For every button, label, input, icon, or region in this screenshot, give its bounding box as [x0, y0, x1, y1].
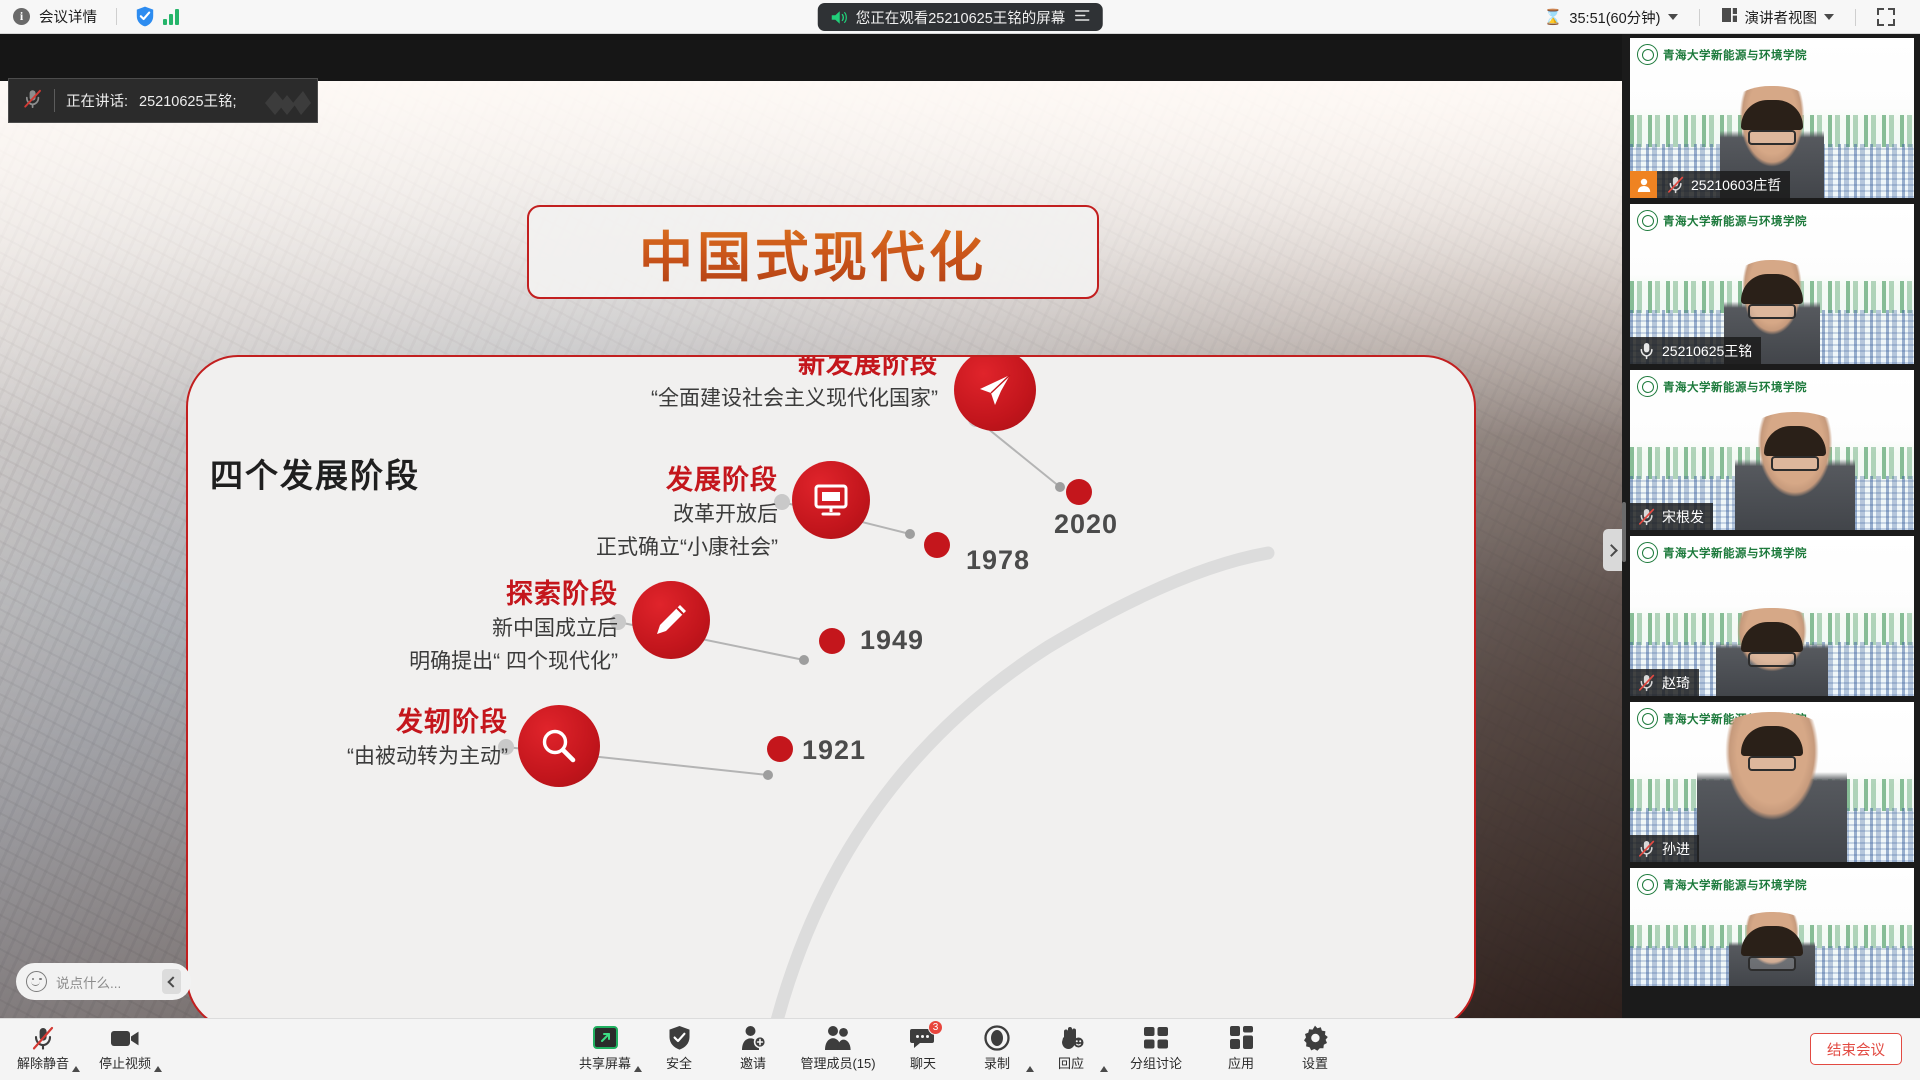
virtual-background-text: 青海大学新能源与环境学院	[1663, 545, 1807, 561]
people-icon	[824, 1024, 852, 1051]
stage-block-1: 发展阶段 改革开放后 正式确立“小康社会”	[448, 465, 778, 561]
host-badge-icon	[1630, 171, 1657, 198]
end-meeting-button[interactable]: 结束会议	[1810, 1033, 1902, 1065]
person-add-icon	[741, 1024, 766, 1051]
timeline-graphic	[188, 357, 1476, 1018]
chat-unread-badge: 3	[928, 1020, 943, 1035]
mic-muted-icon	[1666, 175, 1685, 194]
record-label: 录制	[984, 1053, 1010, 1072]
year-label-1921: 1921	[802, 735, 866, 766]
participant-video-feed	[1697, 712, 1847, 862]
participant-name: 25210603庄哲	[1691, 175, 1781, 195]
strip-scrollbar[interactable]	[1622, 502, 1626, 562]
participant-nametag: 孙进	[1630, 835, 1699, 862]
participant-video-feed	[1735, 412, 1855, 530]
participant-nametag: 宋根发	[1630, 503, 1713, 530]
view-mode-selector[interactable]: 演讲者视图	[1710, 7, 1846, 28]
share-screen-button[interactable]: 共享屏幕	[568, 1019, 642, 1072]
raise-hand-icon	[1058, 1024, 1084, 1051]
speaking-label: 正在讲话:	[66, 90, 128, 111]
apps-grid-icon	[1229, 1024, 1254, 1051]
mic-unmuted-icon	[1637, 341, 1656, 360]
camera-icon	[110, 1024, 140, 1051]
university-seal-icon	[1637, 210, 1658, 231]
participant-nametag: 赵琦	[1630, 669, 1699, 696]
participant-name: 赵琦	[1662, 673, 1690, 693]
participant-tile[interactable]: 青海大学新能源与环境学院 赵琦	[1630, 536, 1914, 696]
invite-label: 邀请	[740, 1053, 766, 1072]
record-circle-icon	[984, 1024, 1010, 1051]
stage-block-0: 新发展阶段 “全面建设社会主义现代化国家”	[588, 355, 938, 413]
participant-video-feed	[1729, 912, 1815, 986]
meeting-timer[interactable]: ⌛ 35:51(60分钟)	[1533, 7, 1689, 28]
virtual-background-text: 青海大学新能源与环境学院	[1663, 213, 1807, 229]
divider	[1699, 9, 1700, 26]
divider	[1855, 9, 1856, 26]
participant-tile[interactable]: 青海大学新能源与环境学院 25210603庄哲	[1630, 38, 1914, 198]
slide-title-box: 中国式现代化	[527, 205, 1099, 299]
stage-title: 发轫阶段	[198, 707, 508, 738]
apps-button[interactable]: 应用	[1204, 1019, 1278, 1072]
toolbar-center-group: 共享屏幕 安全 邀请 管理成员(15)	[568, 1019, 1352, 1072]
page-title: 中国式现代化	[639, 213, 987, 292]
university-seal-icon	[1637, 44, 1658, 65]
video-label: 停止视频	[99, 1053, 151, 1072]
chevron-down-icon[interactable]	[1668, 14, 1678, 20]
participant-tile[interactable]: 青海大学新能源与环境学院 宋根发	[1630, 370, 1914, 530]
watching-share-text: 您正在观看25210625王铭的屏幕	[856, 7, 1066, 28]
top-bar-right: ⌛ 35:51(60分钟) 演讲者视图	[1533, 0, 1906, 34]
virtual-background-logo: 青海大学新能源与环境学院	[1637, 542, 1807, 563]
share-screen-label: 共享屏幕	[579, 1053, 631, 1072]
university-seal-icon	[1637, 874, 1658, 895]
magnifier-icon	[518, 705, 600, 787]
divider	[116, 8, 117, 25]
breakout-rooms-label: 分组讨论	[1130, 1053, 1182, 1072]
stage-subtitle-2: 正式确立“小康社会”	[448, 534, 778, 562]
virtual-background-logo: 青海大学新能源与环境学院	[1637, 210, 1807, 231]
settings-label: 设置	[1302, 1053, 1328, 1072]
breakout-rooms-icon	[1143, 1024, 1169, 1051]
reactions-label: 回应	[1058, 1053, 1084, 1072]
participant-tile[interactable]: 青海大学新能源与环境学院 孙进	[1630, 702, 1914, 862]
stage-block-2: 探索阶段 新中国成立后 明确提出“ 四个现代化”	[288, 579, 618, 675]
virtual-background-text: 青海大学新能源与环境学院	[1663, 47, 1807, 63]
participant-tile[interactable]: 青海大学新能源与环境学院	[1630, 868, 1914, 986]
invite-button[interactable]: 邀请	[716, 1019, 790, 1072]
quick-chat-placeholder[interactable]: 说点什么...	[56, 972, 153, 992]
security-button[interactable]: 安全	[642, 1019, 716, 1072]
meeting-timer-text: 35:51(60分钟)	[1569, 7, 1660, 28]
stage-block-3: 发轫阶段 “由被动转为主动”	[198, 707, 508, 771]
breakout-rooms-button[interactable]: 分组讨论	[1108, 1019, 1204, 1072]
shield-check-icon[interactable]	[136, 6, 154, 27]
participant-name: 25210625王铭	[1662, 341, 1752, 361]
info-icon[interactable]: i	[13, 8, 30, 25]
participant-name: 孙进	[1662, 839, 1690, 859]
chevron-left-icon[interactable]	[162, 969, 181, 994]
stage-subtitle-2: 明确提出“ 四个现代化”	[288, 648, 618, 676]
smiley-icon[interactable]	[26, 971, 47, 992]
list-menu-icon[interactable]	[1074, 9, 1089, 26]
stage-title: 探索阶段	[288, 579, 618, 610]
apps-label: 应用	[1228, 1053, 1254, 1072]
share-screen-icon	[593, 1024, 618, 1051]
chat-button[interactable]: 3 聊天	[886, 1019, 960, 1072]
stage-title: 发展阶段	[448, 465, 778, 496]
exit-fullscreen-icon	[1877, 8, 1895, 26]
mic-muted-icon	[30, 1024, 56, 1051]
chat-label: 聊天	[910, 1053, 936, 1072]
university-seal-icon	[1637, 542, 1658, 563]
mic-muted-icon	[1637, 507, 1656, 526]
settings-button[interactable]: 设置	[1278, 1019, 1352, 1072]
participant-video-strip[interactable]: 青海大学新能源与环境学院 25210603庄哲 青海大学新能源与环境学院	[1622, 34, 1920, 1018]
participant-nametag: 25210603庄哲	[1630, 171, 1790, 198]
security-label: 安全	[666, 1053, 692, 1072]
record-button[interactable]: 录制	[960, 1019, 1034, 1072]
mic-muted-icon	[1637, 673, 1656, 692]
stage-subtitle: “由被动转为主动”	[198, 743, 508, 771]
shield-icon	[668, 1024, 691, 1051]
stage-title: 新发展阶段	[588, 355, 938, 380]
participants-button[interactable]: 管理成员(15)	[790, 1019, 886, 1072]
virtual-background-logo: 青海大学新能源与环境学院	[1637, 874, 1807, 895]
participants-label: 管理成员(15)	[800, 1053, 875, 1072]
participant-video-feed	[1716, 608, 1828, 696]
reactions-button[interactable]: 回应	[1034, 1019, 1108, 1072]
top-bar: i 会议详情 您正在观看25210625王铭的屏幕 ⌛ 35:51(60分钟)	[0, 0, 1920, 34]
mute-label: 解除静音	[17, 1053, 69, 1072]
chevron-down-icon[interactable]	[1824, 14, 1834, 20]
active-speaker-banner[interactable]: 正在讲话: 25210625王铭;	[8, 78, 318, 123]
stage-subtitle: “全面建设社会主义现代化国家”	[588, 385, 938, 413]
participant-tile[interactable]: 青海大学新能源与环境学院 25210625王铭	[1630, 204, 1914, 364]
year-label-2020: 2020	[1054, 509, 1118, 540]
virtual-background-text: 青海大学新能源与环境学院	[1663, 379, 1807, 395]
shared-screen-stage[interactable]: 中国式现代化 四个发展阶段	[0, 34, 1622, 1018]
university-seal-icon	[1637, 376, 1658, 397]
stage-subtitle: 新中国成立后	[288, 615, 618, 643]
participant-name: 宋根发	[1662, 507, 1704, 527]
year-label-1949: 1949	[860, 625, 924, 656]
divider	[54, 89, 55, 112]
stage-subtitle: 改革开放后	[448, 501, 778, 529]
monitor-icon	[792, 461, 870, 539]
participant-nametag: 25210625王铭	[1630, 337, 1761, 364]
slide-content-card: 四个发展阶段	[186, 355, 1476, 1018]
exit-fullscreen-button[interactable]	[1866, 8, 1906, 26]
toolbar-left-group: 解除静音 停止视频	[6, 1019, 162, 1072]
mic-muted-icon	[1637, 839, 1656, 858]
mic-muted-icon	[22, 88, 43, 114]
virtual-background-text: 青海大学新能源与环境学院	[1663, 877, 1807, 893]
virtual-background-logo: 青海大学新能源与环境学院	[1637, 376, 1807, 397]
drag-handle-icon[interactable]	[263, 87, 311, 115]
speaking-names: 25210625王铭;	[139, 90, 237, 111]
mute-button[interactable]: 解除静音	[6, 1019, 80, 1072]
top-bar-left: i 会议详情	[0, 6, 179, 27]
meeting-toolbar: 解除静音 停止视频 共享屏幕	[0, 1018, 1920, 1080]
presentation-slide: 中国式现代化 四个发展阶段	[0, 81, 1622, 1018]
view-mode-text: 演讲者视图	[1745, 7, 1818, 28]
pencil-icon	[632, 581, 710, 659]
quick-chat-input[interactable]: 说点什么...	[16, 963, 191, 1000]
meeting-details-label[interactable]: 会议详情	[39, 6, 97, 27]
virtual-background-logo: 青海大学新能源与环境学院	[1637, 44, 1807, 65]
video-button[interactable]: 停止视频	[88, 1019, 162, 1072]
year-label-1978: 1978	[966, 545, 1030, 576]
side-panel-toggle[interactable]	[1603, 529, 1622, 571]
hourglass-icon: ⌛	[1544, 8, 1563, 26]
signal-bars-icon[interactable]	[163, 9, 179, 25]
university-seal-icon	[1637, 708, 1658, 729]
gear-icon	[1302, 1024, 1328, 1051]
zoom-meeting-window: i 会议详情 您正在观看25210625王铭的屏幕 ⌛ 35:51(60分钟)	[0, 0, 1920, 1080]
layout-icon	[1721, 7, 1738, 27]
speaker-icon	[831, 10, 847, 24]
watching-share-banner[interactable]: 您正在观看25210625王铭的屏幕	[818, 3, 1103, 31]
